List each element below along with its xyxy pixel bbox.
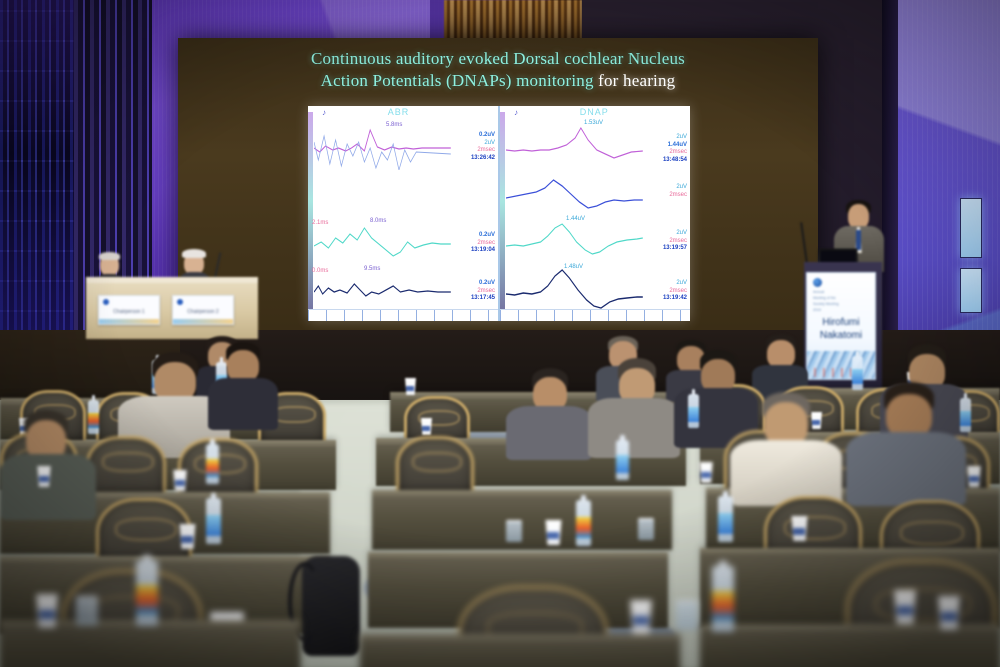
waveform-trace	[506, 122, 643, 170]
person-body	[0, 454, 96, 520]
person-body	[506, 406, 592, 460]
trace-timestamp: 13:17:45	[471, 295, 495, 303]
trace-timestamp: 13:19:04	[471, 247, 495, 255]
presentation-slide: Continuous auditory evoked Dorsal cochle…	[178, 38, 818, 330]
chart-container: ♪ ABR 5.8ms 0.2uV 2uV	[308, 106, 690, 321]
chart-panel-dnap: ♪ DNAP 1.53uV 2uV 1.44uV 2msec 13:48:54	[498, 106, 690, 321]
trace-sweeps: 2msec	[471, 288, 495, 296]
chart-axis-bottom-abr	[308, 309, 498, 321]
waveform-trace	[506, 168, 643, 216]
water-bottle	[206, 498, 221, 544]
waveform-trace	[314, 266, 451, 314]
audience-table	[360, 634, 680, 667]
trace-scale: 2uV	[669, 184, 687, 192]
projection-screen: Continuous auditory evoked Dorsal cochle…	[178, 38, 818, 330]
trace-latency-label: 2.1ms	[312, 220, 328, 226]
waveform-trace	[506, 266, 643, 314]
person-body	[588, 398, 680, 458]
audience-member	[730, 392, 842, 504]
slide-title-line2-main: Action Potentials (DNAPs) monitoring	[321, 71, 599, 90]
trace-timestamp: 13:19:42	[663, 295, 687, 303]
namecard-text: Chairperson 1	[99, 309, 159, 315]
trace-scale: 2uV	[663, 134, 687, 142]
audience-member	[846, 382, 966, 504]
water-bottle	[136, 560, 158, 626]
wall-niche-upper	[960, 198, 982, 258]
note-icon-abr: ♪	[322, 108, 326, 117]
podium-sign: Annual Meeting of the Society Meeting 20…	[806, 272, 876, 380]
wall-niche-lower	[960, 268, 982, 313]
namecard-footer-art	[99, 319, 159, 324]
drinking-glass	[76, 596, 98, 626]
head-table: Chairperson 1 Chairperson 2	[86, 277, 258, 339]
trace-amplitude: 0.2uV	[471, 132, 495, 140]
bottle-label	[616, 455, 629, 473]
slide-title: Continuous auditory evoked Dorsal cochle…	[178, 48, 818, 93]
conference-room-scene: Continuous auditory evoked Dorsal cochle…	[0, 0, 1000, 667]
logo-icon	[103, 299, 109, 305]
note-icon-dnap: ♪	[514, 108, 518, 117]
backpack-on-floor	[302, 556, 360, 656]
panel-title-dnap: DNAP	[580, 107, 609, 117]
trace-peak-label: 1.44uV	[566, 216, 585, 222]
bottle-label	[718, 513, 733, 533]
person-tie	[856, 230, 861, 250]
person-head	[767, 340, 795, 368]
conference-logo-icon	[813, 278, 822, 287]
water-bottle	[616, 440, 629, 480]
trace-annotation: 0.2uV 2uV 2msec 13:26:42	[471, 132, 495, 162]
namecard-text: Chairperson 2	[173, 309, 233, 315]
trace-peak-label: 5.8ms	[386, 122, 402, 128]
trace-timestamp: 13:48:54	[663, 157, 687, 165]
trace-row: 9.5ms 0.0ms 0.2uV 2msec 13:17:45	[308, 266, 498, 314]
audience-member	[506, 368, 592, 458]
trace-sweeps: 2msec	[663, 288, 687, 296]
water-bottle	[206, 444, 219, 484]
drinking-glass	[676, 600, 698, 630]
slide-title-highlight: for hearing	[598, 71, 675, 90]
trace-row: 2uV 2msec	[500, 168, 690, 216]
trace-row: 1.44uV 2uV 2msec 13:19:57	[500, 218, 690, 266]
water-bottle	[688, 394, 699, 428]
slide-title-line1: Continuous auditory evoked Dorsal cochle…	[178, 48, 818, 70]
drinking-glass	[638, 518, 654, 540]
trace-annotation: 2uV 2msec 13:19:42	[663, 280, 687, 303]
waveform-trace-secondary	[314, 122, 451, 170]
trace-amplitude: 0.2uV	[471, 232, 495, 240]
trace-timestamp: 13:26:42	[471, 155, 495, 163]
trace-row: 1.48uV 2uV 2msec 13:19:42	[500, 266, 690, 314]
bottle-label	[136, 585, 158, 614]
trace-scale: 2uV	[663, 230, 687, 238]
waveform-trace	[314, 218, 451, 266]
audience-member	[588, 358, 680, 456]
slide-title-line2: Action Potentials (DNAPs) monitoring for…	[178, 70, 818, 92]
person-hair	[182, 249, 206, 258]
trace-sweeps: 2msec	[663, 238, 687, 246]
person-body	[846, 432, 966, 506]
trace-peak-label: 1.53uV	[584, 120, 603, 126]
trace-row: 1.53uV 2uV 1.44uV 2msec 13:48:54	[500, 122, 690, 170]
audience-table	[372, 490, 672, 550]
drinking-glass	[506, 520, 522, 542]
audience-member	[0, 410, 96, 518]
trace-peak-label: 9.5ms	[364, 266, 380, 272]
water-bottle	[712, 566, 734, 632]
trace-scale: 2uV	[471, 140, 495, 148]
trace-row: 8.0ms 2.1ms 0.2uV 2msec 13:19:04	[308, 218, 498, 266]
trace-annotation: 0.2uV 2msec 13:19:04	[471, 232, 495, 255]
namecard: Chairperson 2	[172, 295, 234, 325]
trace-annotation: 0.2uV 2msec 13:17:45	[471, 280, 495, 303]
waveform-trace	[506, 218, 643, 266]
trace-annotation: 2uV 2msec	[669, 184, 687, 199]
bottle-label	[688, 407, 699, 422]
bottle-label	[206, 515, 221, 535]
trace-scale: 2uV	[663, 280, 687, 288]
cup-lid	[210, 612, 244, 620]
sign-decorative-art	[807, 351, 875, 379]
subtitle-line: 2019	[813, 307, 869, 313]
panel-title-abr: ABR	[388, 107, 410, 117]
speaker-name: Hirofumi Nakatomi	[807, 317, 875, 342]
namecard-footer-art	[173, 319, 233, 324]
trace-timestamp: 13:19:57	[663, 245, 687, 253]
water-bottle	[718, 496, 733, 542]
trace-latency-label: 0.0ms	[312, 268, 328, 274]
trace-peak-label: 8.0ms	[370, 218, 386, 224]
person-hair	[99, 252, 120, 260]
trace-sweeps: 2msec	[669, 192, 687, 200]
person-body	[208, 378, 278, 430]
namecard: Chairperson 1	[98, 295, 160, 325]
trace-amplitude: 0.2uV	[471, 280, 495, 288]
speaker-last-name: Nakatomi	[807, 330, 875, 343]
bottle-label	[206, 459, 219, 477]
chart-axis-bottom-dnap	[500, 309, 690, 321]
audience-member	[208, 342, 278, 428]
bottle-label	[712, 591, 734, 620]
podium-sign-subtitle: Annual Meeting of the Society Meeting 20…	[813, 289, 869, 313]
trace-amplitude: 1.44uV	[663, 142, 687, 150]
blue-slat-wall-left	[0, 0, 74, 340]
trace-annotation: 2uV 1.44uV 2msec 13:48:54	[663, 134, 687, 164]
water-bottle	[576, 500, 591, 546]
trace-row: 5.8ms 0.2uV 2uV 2msec 13:26:42	[308, 122, 498, 170]
trace-sweeps: 2msec	[471, 240, 495, 248]
trace-sweeps: 2msec	[471, 147, 495, 155]
chart-panel-abr: ♪ ABR 5.8ms 0.2uV 2uV	[308, 106, 498, 321]
trace-sweeps: 2msec	[663, 149, 687, 157]
trace-peak-label: 1.48uV	[564, 264, 583, 270]
speaker-first-name: Hirofumi	[807, 317, 875, 330]
logo-icon	[177, 299, 183, 305]
trace-annotation: 2uV 2msec 13:19:57	[663, 230, 687, 253]
bottle-label	[576, 517, 591, 537]
audience-table	[700, 624, 1000, 667]
